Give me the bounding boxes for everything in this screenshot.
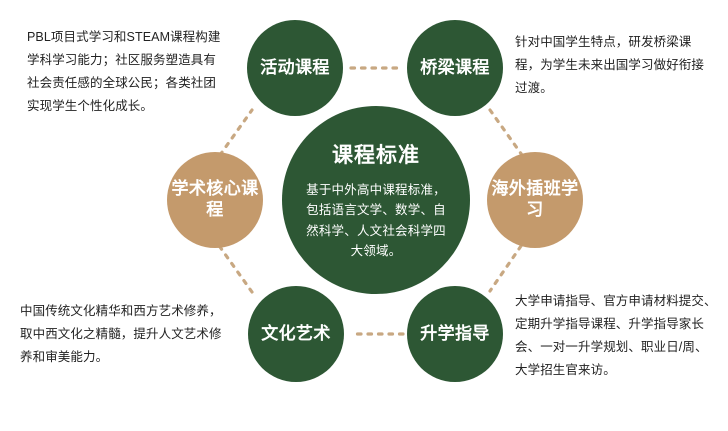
annotation-top-left: PBL项目式学习和STEAM课程构建学科学习能力；社区服务塑造具有社会责任感的全… [27, 26, 227, 119]
node-bridge-curriculum[interactable]: 桥梁课程 [407, 20, 503, 116]
node-college-guidance[interactable]: 升学指导 [407, 286, 503, 382]
node-academic-core-curriculum[interactable]: 学术核心课程 [167, 152, 263, 248]
center-node-title: 课程标准 [332, 139, 420, 169]
node-academic-core-curriculum-label: 学术核心课程 [167, 179, 263, 220]
node-college-guidance-label: 升学指导 [416, 324, 494, 345]
node-culture-and-arts[interactable]: 文化艺术 [248, 286, 344, 382]
center-node-description: 基于中外高中课程标准，包括语言文学、数学、自然科学、人文社会科学四大领域。 [304, 180, 448, 261]
connector-bridge-overseas [490, 110, 522, 155]
annotation-bottom-right: 大学申请指导、官方申请材料提交、定期升学指导课程、升学指导家长会、一对一升学规划… [515, 290, 720, 383]
node-overseas-study-label: 海外插班学习 [487, 179, 583, 220]
curriculum-diagram: 课程标准 基于中外高中课程标准，包括语言文学、数学、自然科学、人文社会科学四大领… [0, 0, 728, 431]
connector-culture-academic [220, 247, 252, 292]
connector-overseas-guidance [490, 246, 521, 291]
annotation-top-right: 针对中国学生特点，研发桥梁课程，为学生未来出国学习做好衔接过渡。 [515, 31, 715, 100]
node-overseas-study[interactable]: 海外插班学习 [487, 152, 583, 248]
node-bridge-curriculum-label: 桥梁课程 [416, 58, 494, 79]
annotation-bottom-left: 中国传统文化精华和西方艺术修养，取中西文化之精髓，提升人文艺术修养和审美能力。 [20, 300, 228, 369]
center-node-curriculum-standard[interactable]: 课程标准 基于中外高中课程标准，包括语言文学、数学、自然科学、人文社会科学四大领… [282, 106, 470, 294]
node-activity-curriculum[interactable]: 活动课程 [247, 20, 343, 116]
node-culture-and-arts-label: 文化艺术 [257, 324, 335, 345]
node-activity-curriculum-label: 活动课程 [256, 58, 334, 79]
